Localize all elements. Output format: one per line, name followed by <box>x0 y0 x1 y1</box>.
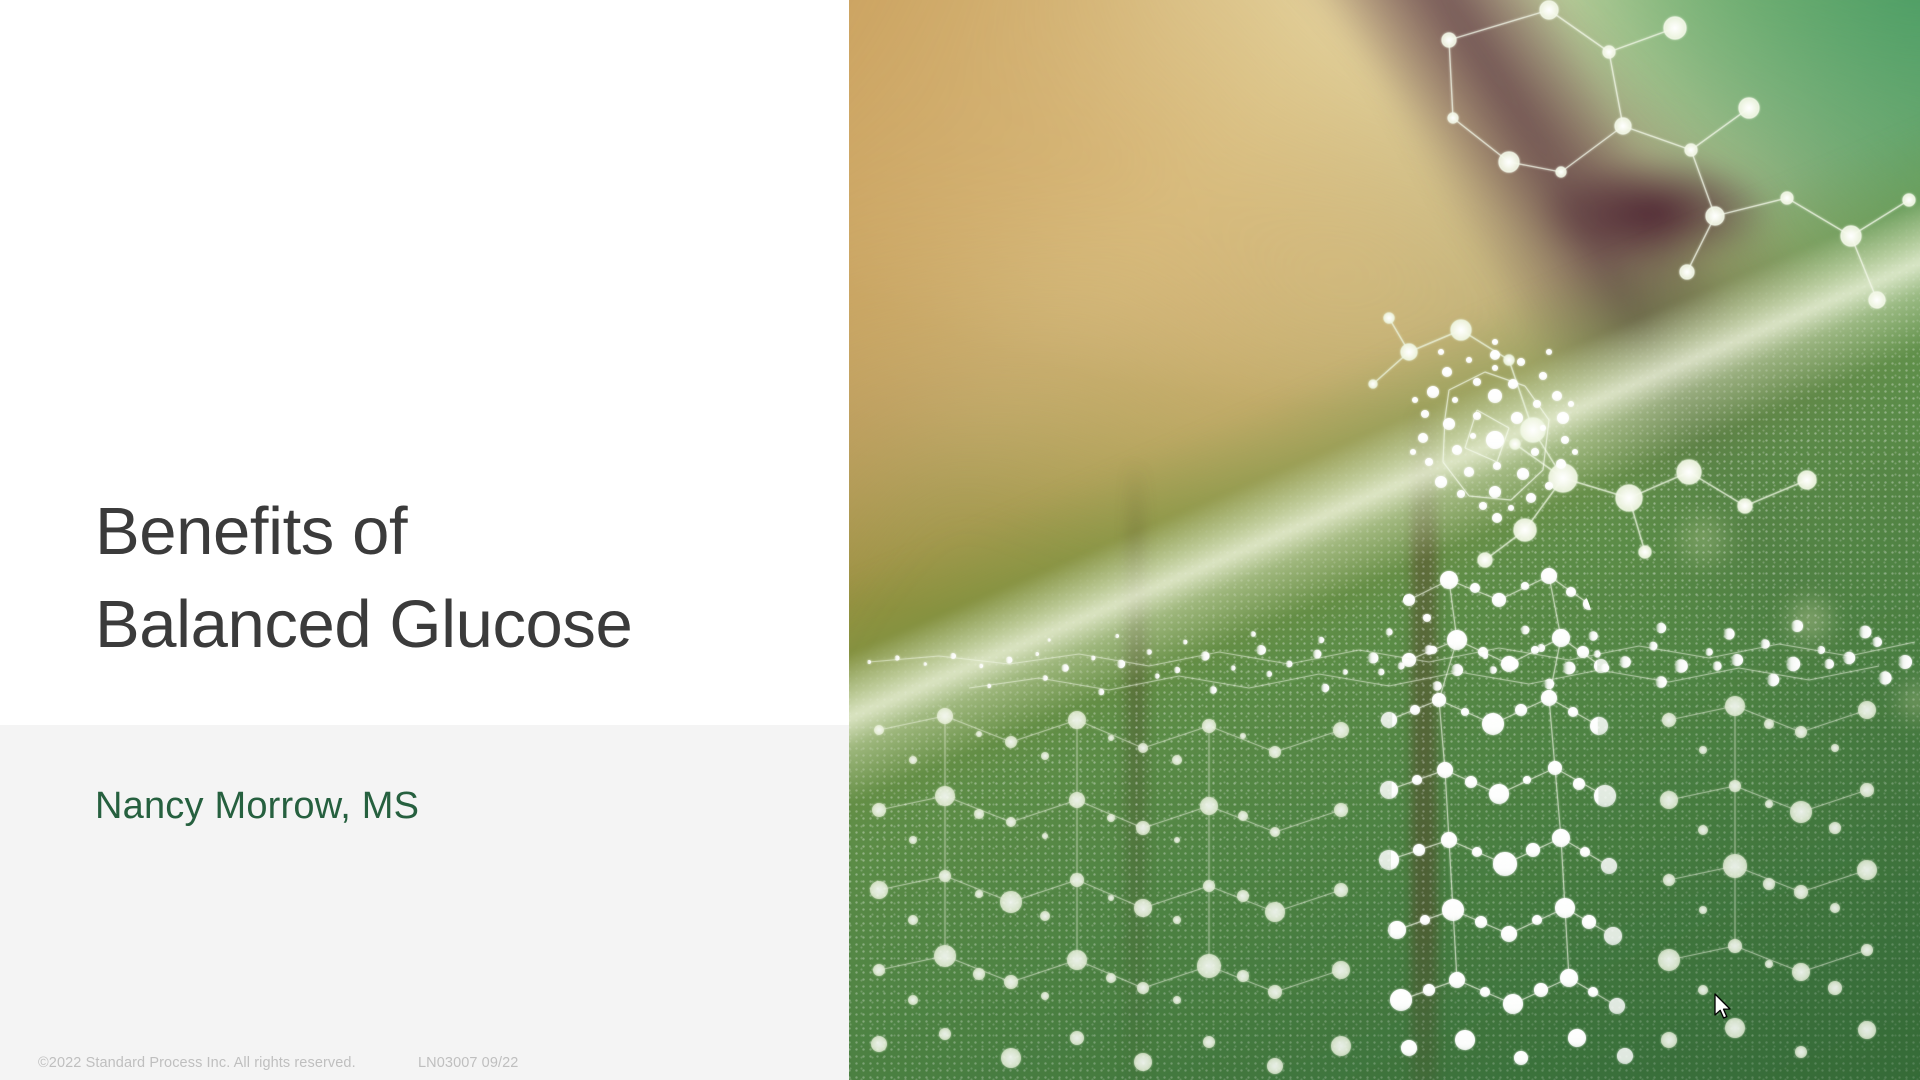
title-panel: Benefits of Balanced Glucose <box>0 0 849 725</box>
footer-copyright: ©2022 Standard Process Inc. All rights r… <box>38 1055 356 1071</box>
presenter-name: Nancy Morrow, MS <box>95 785 419 828</box>
presenter-panel: Nancy Morrow, MS ©2022 Standard Process … <box>0 725 849 1080</box>
slide-footer: ©2022 Standard Process Inc. All rights r… <box>0 1055 849 1080</box>
footer-document-code: LN03007 09/22 <box>418 1055 518 1071</box>
leaf-photo-dew-texture <box>849 0 1920 1080</box>
presentation-slide: Benefits of Balanced Glucose Nancy Morro… <box>0 0 1920 1080</box>
slide-hero-image <box>849 0 1920 1080</box>
slide-text-panel: Benefits of Balanced Glucose Nancy Morro… <box>0 0 849 1080</box>
page-title: Benefits of Balanced Glucose <box>95 485 795 671</box>
